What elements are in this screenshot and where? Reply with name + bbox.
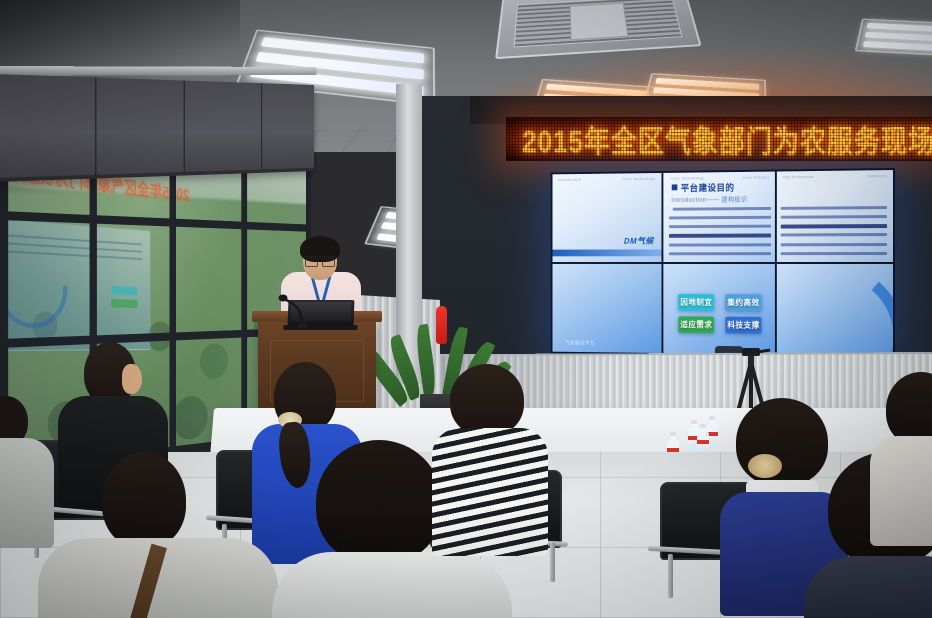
slide-logo: DM气候 — [624, 235, 654, 247]
video-wall-panel-4: 气象服务平台 — [552, 264, 661, 353]
ac-center-panel — [570, 3, 628, 40]
gooseneck-microphone — [278, 292, 308, 328]
slide-subtitle: Introduction—— 建构级识 — [671, 193, 747, 203]
panel-header-label-c: Core Technology — [670, 175, 704, 180]
slide-button-4: 科技支撑 — [725, 317, 761, 334]
slide-button-3: 适应需求 — [679, 317, 715, 334]
slide-logo-bar — [552, 249, 661, 256]
led-banner-text: 2015年全区气象部门为农服务现场推进会 — [506, 117, 932, 161]
audience-face — [122, 364, 142, 394]
video-wall-panel-1: Introduction Core Technology DM气候 — [552, 173, 661, 262]
audience-head — [102, 452, 186, 548]
slide-button-group: 因地制宜 集约高效 适应需求 科技支撑 — [679, 294, 762, 334]
video-wall-panel-5: 因地制宜 集约高效 适应需求 科技支撑 — [663, 264, 775, 355]
video-wall-panel-6 — [777, 264, 893, 356]
slide-footer: 气象服务平台 — [565, 339, 595, 346]
audience-body — [804, 556, 932, 618]
led-banner: 2015年全区气象部门为农服务现场推进会 — [506, 117, 932, 161]
video-wall-panel-3: Key Enterprise Summary — [777, 170, 893, 262]
slide-title-text: 平台建设目的 — [681, 183, 735, 193]
slide-title: 平台建设目的 — [671, 181, 734, 194]
plant-flower — [436, 306, 447, 344]
video-wall-display[interactable]: Introduction Core Technology DM气候 Core T… — [551, 168, 895, 358]
roller-blinds[interactable] — [0, 74, 314, 182]
ceiling-light-5 — [855, 19, 932, 58]
panel-header-label-e: Key Enterprise — [783, 174, 814, 179]
panel-header-label-b: Core Technology — [622, 176, 655, 181]
video-wall-panel-2: Core Technology Core Product 平台建设目的 Intr… — [663, 172, 775, 263]
audience-body — [0, 438, 54, 548]
audience-head — [450, 364, 524, 436]
audience-head — [316, 440, 442, 564]
panel-header-label-f: Summary — [867, 173, 887, 178]
blind-rail — [0, 66, 316, 76]
slide-button-1: 因地制宜 — [679, 294, 715, 311]
audience-body — [432, 428, 548, 556]
conference-room-photo: 2015年全区气象部门为农服务现场推进会 Introduction Core T… — [0, 0, 932, 618]
panel-header-label-d: Core Product — [742, 175, 769, 180]
audience-body — [272, 552, 512, 618]
slide-button-2: 集约高效 — [725, 295, 761, 312]
audience-body — [870, 436, 932, 546]
audience-head — [736, 398, 828, 486]
slide-title-bullet — [671, 184, 677, 190]
hair-clip — [748, 454, 782, 478]
panel-header-label: Introduction — [558, 177, 581, 182]
speaker-glasses — [305, 256, 335, 265]
